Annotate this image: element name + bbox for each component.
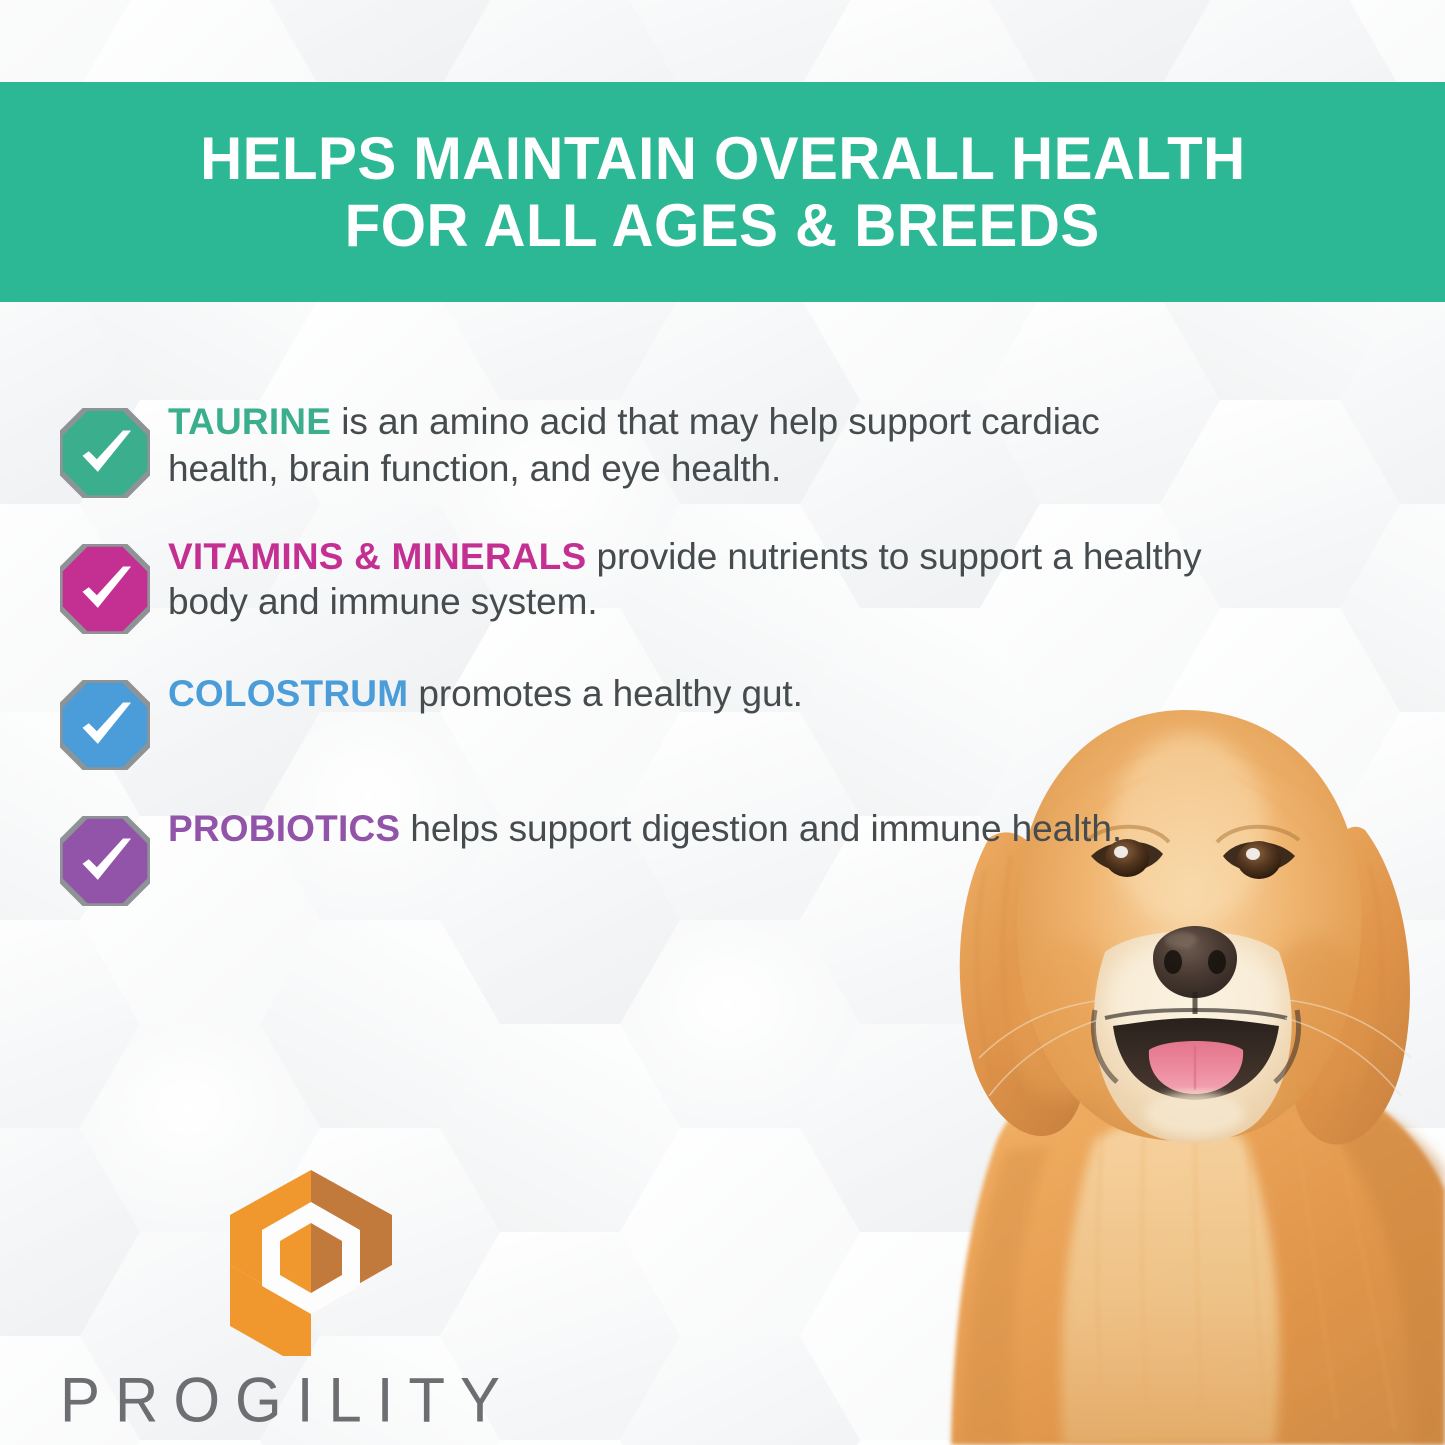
- benefit-description: promotes a healthy gut.: [408, 673, 803, 714]
- list-item: TAURINE is an amino acid that may help s…: [60, 398, 1220, 508]
- benefit-term: VITAMINS & MINERALS: [168, 536, 586, 577]
- brand-logo: PROGILITY: [60, 1168, 560, 1433]
- benefit-term: TAURINE: [168, 401, 331, 442]
- check-icon: [60, 680, 150, 770]
- check-icon: [60, 408, 150, 498]
- check-icon: [60, 816, 150, 906]
- benefit-term: PROBIOTICS: [168, 808, 400, 849]
- list-item-text: COLOSTRUM promotes a healthy gut.: [60, 670, 1220, 717]
- list-item: PROBIOTICS helps support digestion and i…: [60, 806, 1220, 916]
- banner-headline-line1: HELPS MAINTAIN OVERALL HEALTH: [200, 125, 1246, 192]
- header-banner: HELPS MAINTAIN OVERALL HEALTH FOR ALL AG…: [0, 82, 1445, 302]
- check-icon: [60, 544, 150, 634]
- list-item-text: PROBIOTICS helps support digestion and i…: [60, 806, 1220, 851]
- promo-image-canvas: HELPS MAINTAIN OVERALL HEALTH FOR ALL AG…: [0, 0, 1445, 1445]
- benefit-term: COLOSTRUM: [168, 673, 408, 714]
- benefits-list: TAURINE is an amino acid that may help s…: [60, 398, 1220, 942]
- banner-headline-line2: FOR ALL AGES & BREEDS: [345, 192, 1100, 259]
- list-item: VITAMINS & MINERALS provide nutrients to…: [60, 534, 1220, 644]
- list-item-text: VITAMINS & MINERALS provide nutrients to…: [60, 534, 1220, 624]
- brand-wordmark: PROGILITY: [60, 1364, 560, 1436]
- benefit-description: helps support digestion and immune healt…: [400, 808, 1122, 849]
- list-item: COLOSTRUM promotes a healthy gut.: [60, 670, 1220, 780]
- list-item-text: TAURINE is an amino acid that may help s…: [60, 398, 1220, 493]
- hexagon-p-logo-icon: [228, 1168, 394, 1358]
